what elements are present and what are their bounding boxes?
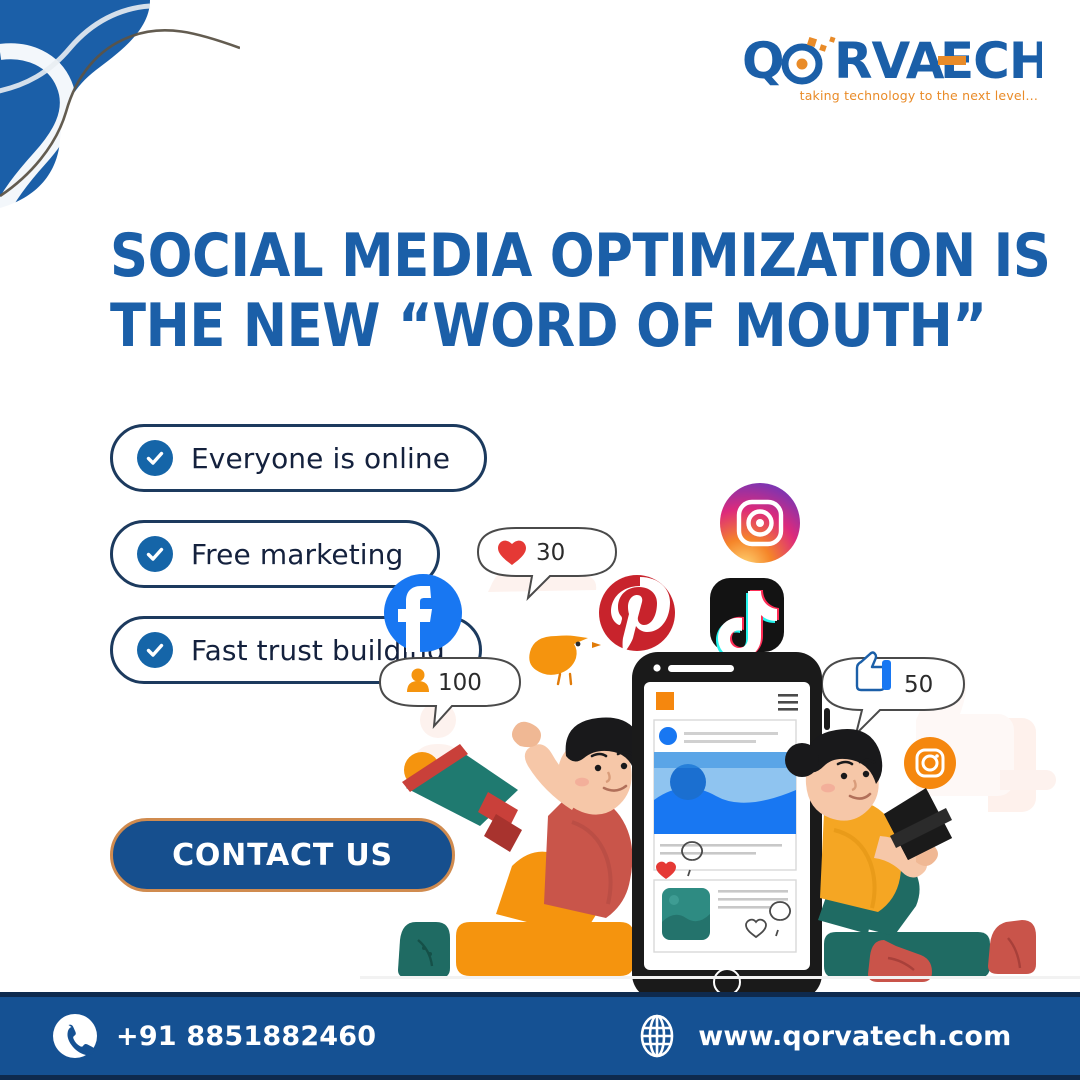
smartphone-mockup [632, 652, 830, 1000]
poster-canvas: Q RVA ECH taking technology to the next … [0, 0, 1080, 1080]
check-circle-icon [137, 536, 173, 572]
svg-text:RVA: RVA [834, 34, 945, 90]
bird-icon [529, 636, 601, 685]
check-circle-icon [137, 440, 173, 476]
likes-count: 30 [536, 540, 565, 566]
phone-icon [52, 1013, 98, 1059]
thumbs-count: 50 [904, 672, 933, 698]
corner-decoration [0, 0, 240, 220]
brand-logo: Q RVA ECH taking technology to the next … [742, 34, 1042, 114]
globe-icon [634, 1013, 680, 1059]
footer-phone[interactable]: +91 8851882460 [52, 1013, 376, 1059]
website-url: www.qorvatech.com [698, 1021, 1011, 1052]
social-media-illustration: 30 100 50 [360, 470, 1080, 1010]
check-circle-icon [137, 632, 173, 668]
logo-tagline: taking technology to the next level... [742, 88, 1042, 103]
contact-footer: +91 8851882460 www.qorvatech.com [0, 992, 1080, 1080]
facebook-icon[interactable] [384, 574, 462, 652]
followers-count: 100 [438, 670, 482, 696]
headline-line-2: THE NEW “WORD OF MOUTH” [110, 292, 902, 362]
tiktok-icon[interactable] [710, 578, 784, 661]
app-logo-square [656, 692, 674, 710]
footer-website[interactable]: www.qorvatech.com [634, 1013, 1011, 1059]
phone-number: +91 8851882460 [116, 1021, 376, 1052]
pinterest-icon[interactable] [599, 575, 675, 654]
svg-text:Q: Q [742, 34, 785, 90]
instagram-small-icon[interactable] [904, 737, 956, 789]
page-title: SOCIAL MEDIA OPTIMIZATION IS THE NEW “WO… [110, 222, 902, 361]
instagram-icon[interactable] [720, 483, 800, 563]
headline-line-1: SOCIAL MEDIA OPTIMIZATION IS [110, 222, 902, 292]
megaphone-icon [402, 744, 522, 852]
logo-wordmark-icon: Q RVA ECH [742, 34, 1042, 90]
